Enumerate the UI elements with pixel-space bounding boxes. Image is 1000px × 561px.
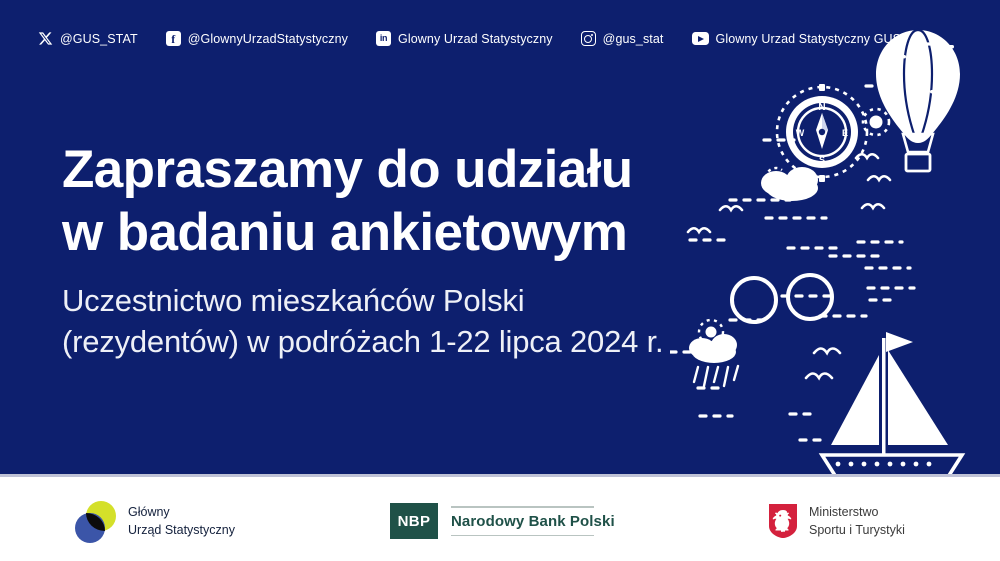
gus-logo-text: Główny Urząd Statystyczny — [128, 504, 235, 540]
gus-circles-icon — [72, 500, 118, 544]
ministry-logo-line-1: Ministerstwo — [809, 503, 905, 521]
hot-air-balloon-icon — [876, 30, 960, 171]
social-link-label: @GlownyUrzadStatystyczny — [188, 32, 348, 46]
social-link-linkedin[interactable]: in Glowny Urzad Statystyczny — [376, 31, 553, 46]
sailboat-icon — [822, 332, 962, 474]
travel-icons-illustration: N S W E — [670, 0, 1000, 474]
social-links-bar: @GUS_STAT f @GlownyUrzadStatystyczny in … — [38, 31, 929, 46]
gus-logo-line-2: Urząd Statystyczny — [128, 522, 235, 540]
poster-canvas: N S W E — [0, 0, 1000, 561]
instagram-icon — [581, 31, 596, 46]
nbp-rule-bottom — [451, 535, 594, 537]
social-link-label: @GUS_STAT — [60, 32, 138, 46]
svg-text:S: S — [819, 155, 825, 165]
polish-coat-of-arms-icon — [768, 503, 798, 539]
social-link-label: Glowny Urzad Statystyczny — [398, 32, 553, 46]
svg-text:N: N — [818, 102, 825, 113]
social-link-label: @gus_stat — [603, 32, 664, 46]
rain-cloud-icon — [689, 334, 738, 386]
compass-icon: N S W E — [777, 84, 867, 182]
gus-logo: Główny Urząd Statystyczny — [72, 500, 235, 544]
gus-logo-line-1: Główny — [128, 504, 235, 522]
nbp-logo-label: Narodowy Bank Polski — [451, 508, 615, 535]
ministry-logo-text: Ministerstwo Sportu i Turystyki — [809, 503, 905, 539]
social-link-youtube[interactable]: Glowny Urzad Statystyczny GUS — [692, 32, 902, 46]
cloud-icon — [761, 167, 818, 201]
nbp-logo: NBP Narodowy Bank Polski — [390, 503, 615, 539]
nbp-mark: NBP — [390, 503, 438, 539]
social-link-x[interactable]: @GUS_STAT — [38, 31, 138, 46]
headline-line-2: w badaniu ankietowym — [62, 201, 633, 264]
headline: Zapraszamy do udziału w badaniu ankietow… — [62, 138, 633, 264]
x-twitter-icon — [38, 31, 53, 46]
subtitle: Uczestnictwo mieszkańców Polski (rezyden… — [62, 281, 663, 363]
headline-line-1: Zapraszamy do udziału — [62, 138, 633, 201]
subtitle-line-2: (rezydentów) w podróżach 1-22 lipca 2024… — [62, 322, 663, 363]
linkedin-icon: in — [376, 31, 391, 46]
social-link-instagram[interactable]: @gus_stat — [581, 31, 664, 46]
social-link-label: Glowny Urzad Statystyczny GUS — [716, 32, 902, 46]
facebook-icon: f — [166, 31, 181, 46]
youtube-icon — [692, 32, 709, 45]
subtitle-line-1: Uczestnictwo mieszkańców Polski — [62, 281, 663, 322]
ministry-logo: Ministerstwo Sportu i Turystyki — [768, 503, 905, 539]
nbp-logo-text: Narodowy Bank Polski — [451, 506, 615, 536]
binoculars-icon — [732, 275, 832, 322]
svg-text:W: W — [796, 128, 805, 138]
ministry-logo-line-2: Sportu i Turystyki — [809, 521, 905, 539]
svg-text:E: E — [842, 128, 848, 138]
social-link-facebook[interactable]: f @GlownyUrzadStatystyczny — [166, 31, 348, 46]
hero-panel: N S W E — [0, 0, 1000, 474]
